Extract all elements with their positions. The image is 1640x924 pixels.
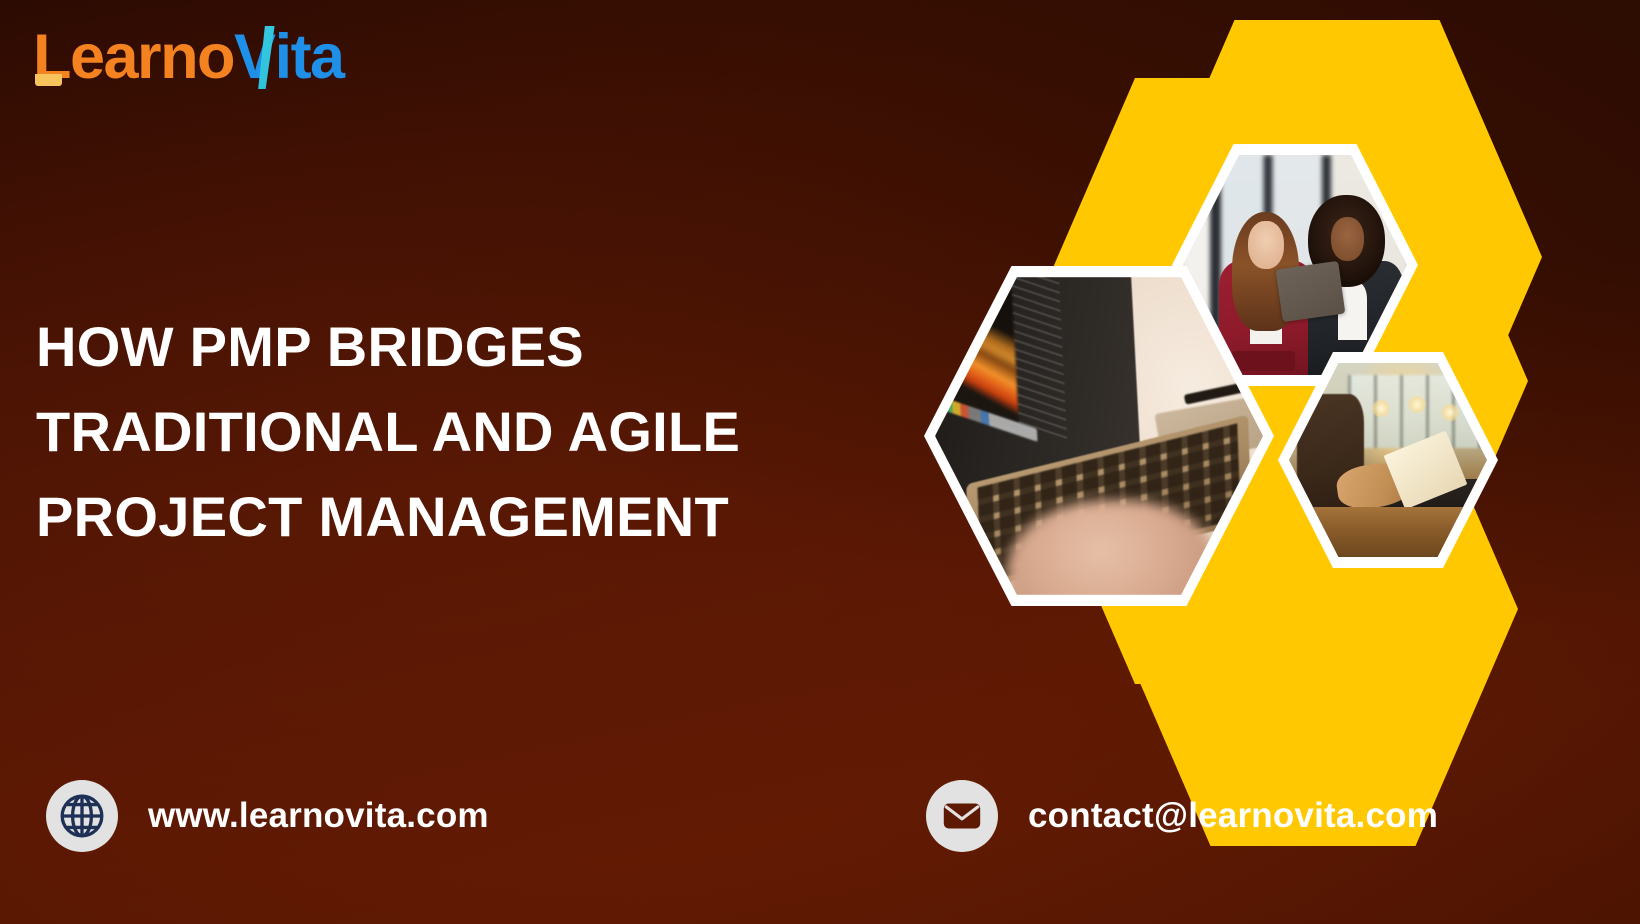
woman-red-blazer-face (1248, 221, 1284, 269)
woman-red-blazer-belt (1232, 351, 1295, 371)
ceiling-lamp-2 (1408, 396, 1426, 413)
screen-editor-panel (1011, 277, 1067, 439)
hands-photo-image (1289, 363, 1487, 557)
woman-dark-blazer-face (1331, 217, 1365, 261)
email-contact[interactable]: contact@learnovita.com (926, 780, 1438, 852)
title-line-2: TRADITIONAL AND AGILE (36, 389, 866, 474)
hands-photo-inner (1289, 363, 1487, 557)
title-line-1: HOW PMP BRIDGES (36, 304, 866, 389)
title-line-3: PROJECT MANAGEMENT (36, 474, 866, 559)
website-url[interactable]: www.learnovita.com (148, 796, 489, 836)
tablet-device (1276, 261, 1345, 322)
hexagon-artwork (826, 0, 1640, 760)
email-address[interactable]: contact@learnovita.com (1028, 796, 1438, 836)
logo-letter-v-cyan-stroke (256, 26, 275, 89)
logo-letter-l-accent (35, 74, 62, 86)
website-contact[interactable]: www.learnovita.com (46, 780, 489, 852)
logo-letter-v: V (234, 26, 275, 89)
logo-text-ita: ita (275, 22, 344, 92)
screen-artwork (935, 277, 1019, 430)
laptop-photo-inner (935, 277, 1263, 595)
learnovita-logo[interactable]: LearnoVita (33, 26, 344, 89)
globe-icon (46, 780, 118, 852)
laptop-photo-image (935, 277, 1263, 595)
envelope-icon (926, 780, 998, 852)
logo-text-earno: earno (70, 22, 234, 92)
page-title: HOW PMP BRIDGES TRADITIONAL AND AGILE PR… (36, 304, 866, 559)
banner-root: LearnoVita HOW PMP BRIDGES TRADITIONAL A… (0, 0, 1640, 924)
